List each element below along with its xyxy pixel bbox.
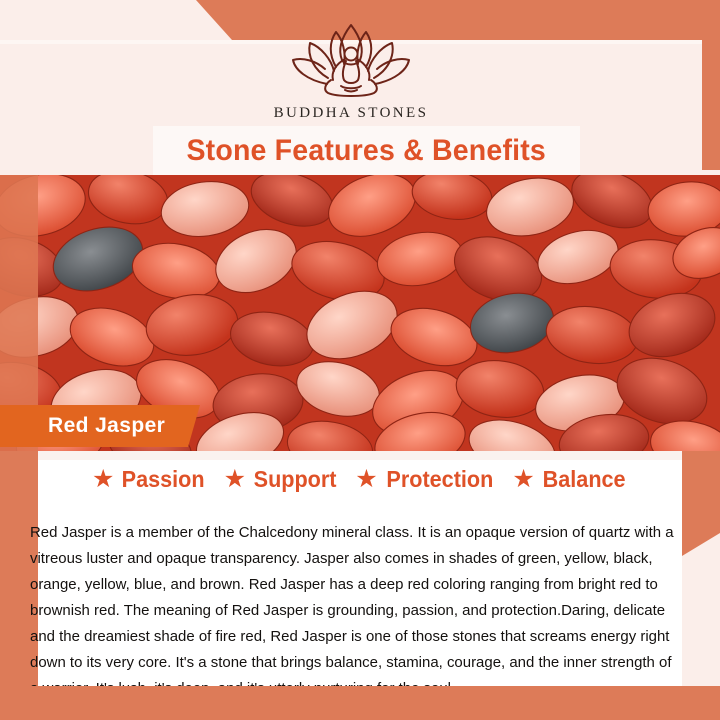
benefit-label: Support <box>254 466 337 493</box>
bottom-orange-bar <box>0 686 720 720</box>
right-orange-tab <box>682 451 720 556</box>
star-icon: ★ <box>355 467 377 492</box>
benefit-label: Passion <box>122 466 205 493</box>
benefit-item-passion: ★ Passion <box>92 466 208 493</box>
benefit-item-protection: ★ Protection <box>355 466 496 493</box>
benefits-row: ★ Passion ★ Support ★ Protection ★ Balan… <box>38 466 682 493</box>
brand-name: BUDDHA STONES <box>274 105 429 122</box>
description-panel-top-tint <box>38 451 682 460</box>
brand-logo: BUDDHA STONES <box>0 22 702 122</box>
benefit-item-support: ★ Support <box>224 466 340 493</box>
lotus-meditation-icon <box>283 22 419 98</box>
star-icon: ★ <box>224 467 246 492</box>
star-icon: ★ <box>512 467 534 492</box>
stone-name-banner: Red Jasper <box>0 405 200 447</box>
benefit-label: Balance <box>542 466 625 493</box>
page-title: Stone Features & Benefits <box>187 134 547 168</box>
benefit-item-balance: ★ Balance <box>512 466 628 493</box>
benefit-label: Protection <box>386 466 493 493</box>
star-icon: ★ <box>92 467 114 492</box>
stone-name: Red Jasper <box>48 414 165 438</box>
right-orange-edge <box>702 40 720 170</box>
stone-description: Red Jasper is a member of the Chalcedony… <box>30 520 682 702</box>
title-ribbon: Stone Features & Benefits <box>153 126 580 175</box>
infographic-page: BUDDHA STONES Stone Features & Benefits <box>0 0 720 720</box>
